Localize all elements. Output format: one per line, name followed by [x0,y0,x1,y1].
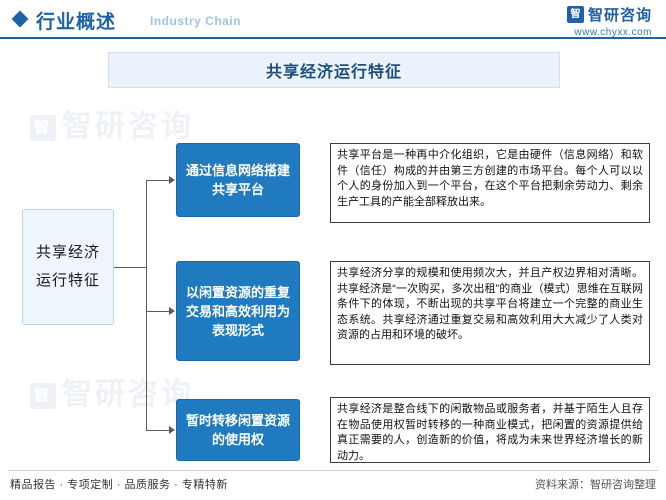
watermark-badge-icon: 智 [30,115,56,141]
connector-branch-1 [146,180,170,181]
brand-header: 智 智研咨询 www.chyxx.com [567,4,652,38]
footer-source: 资料来源：智研咨询整理 [535,476,656,492]
connector-arrow-2 [169,307,175,315]
connector-trunk [146,180,147,430]
chart-title: 共享经济运行特征 [108,52,560,88]
node-label-3: 暂时转移闲置资源的使用权 [176,399,300,461]
page-header: 行业概述 Industry Chain 智 智研咨询 www.chyxx.com [0,0,666,38]
watermark: 智智研咨询 [30,369,194,413]
node-label-1: 通过信息网络搭建共享平台 [176,143,300,217]
root-node: 共享经济运行特征 [22,209,114,325]
connector-arrow-3 [169,426,175,434]
connector-arrow-1 [169,176,175,184]
page-subtitle: Industry Chain [150,14,241,28]
brand-logo-icon: 智 [567,6,584,23]
connector-branch-2 [146,311,170,312]
connector-branch-3 [146,430,170,431]
diagram-canvas: 智智研咨询 智智研咨询 共享经济运行特征 共享经济运行特征 通过信息网络搭建共享… [0,39,666,467]
footer-slogan: 精品报告 · 专项定制 · 品质服务 · 专精特新 [10,476,228,492]
node-description-1: 共享平台是一种再中介化组织，它是由硬件（信息网络）和软件（信任）构成的并由第三方… [330,143,650,223]
watermark-text: 智研咨询 [62,110,194,143]
node-description-2: 共享经济分享的规模和使用频次大，并且产权边界相对清晰。共享经济是“一次购买，多次… [330,261,650,365]
watermark: 智智研咨询 [30,101,194,145]
node-label-2: 以闲置资源的重复交易和高效利用为表现形式 [176,261,300,361]
diamond-icon [12,11,29,28]
footer-divider [8,470,658,471]
watermark-text: 智研咨询 [62,378,194,411]
page-title: 行业概述 [36,7,116,34]
brand-name: 智研咨询 [588,4,652,25]
watermark-badge-icon: 智 [30,383,56,409]
node-description-3: 共享经济是整合线下的闲散物品或服务者，并基于陌生人且存在物品使用权暂时转移的一种… [330,397,650,463]
connector-root-stem [114,267,146,268]
